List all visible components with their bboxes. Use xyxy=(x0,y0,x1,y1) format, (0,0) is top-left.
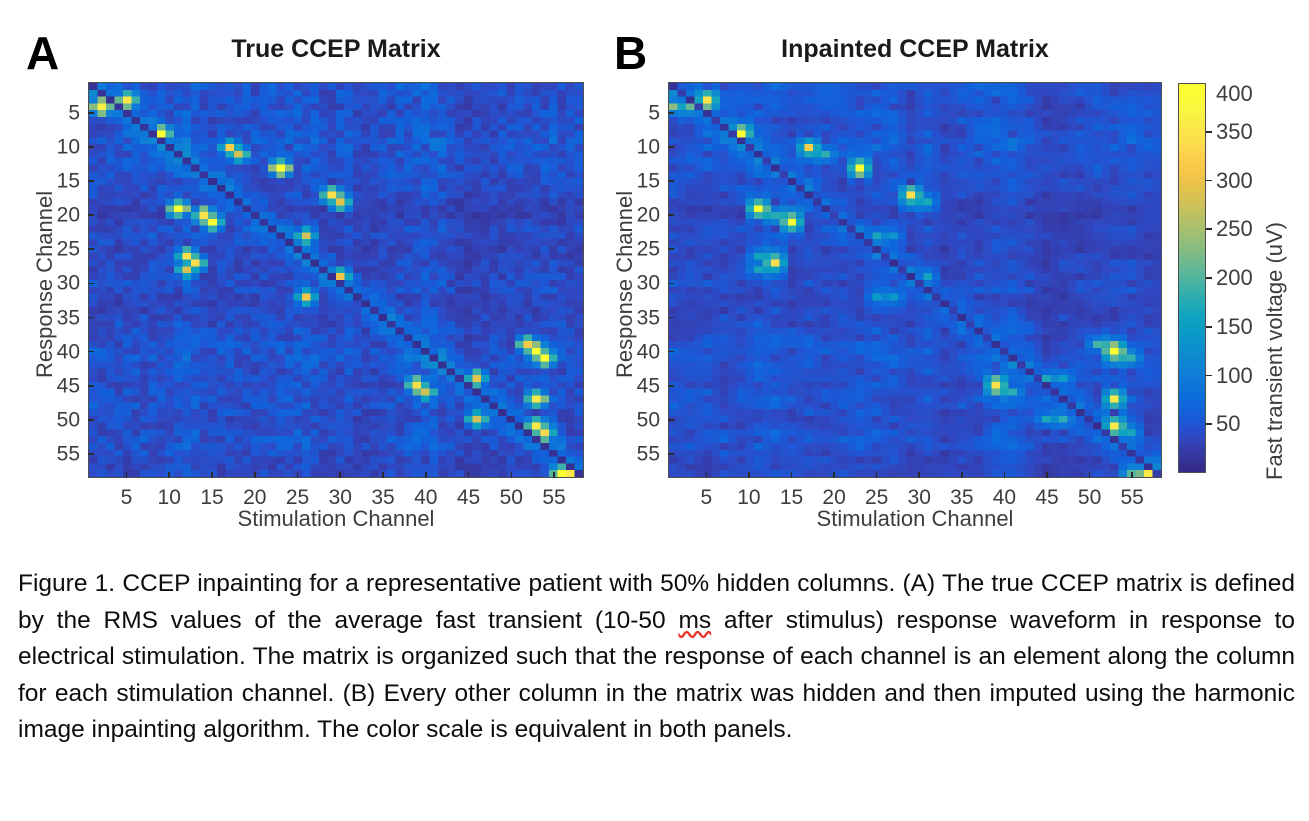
x-tick-label-b-40: 40 xyxy=(993,487,1016,508)
y-tick-label-b-55: 55 xyxy=(612,444,660,465)
y-tick-a-30 xyxy=(88,283,94,285)
x-tick-a-10 xyxy=(168,472,170,478)
colorbar-tick-100 xyxy=(1206,375,1212,377)
y-tick-a-55 xyxy=(88,453,94,455)
panel-letter-a: A xyxy=(26,30,59,76)
panel-title-a: True CCEP Matrix xyxy=(88,37,584,62)
colorbar-label-300: 300 xyxy=(1216,170,1253,192)
x-tick-label-a-10: 10 xyxy=(158,487,181,508)
x-tick-b-10 xyxy=(748,472,750,478)
x-tick-label-a-40: 40 xyxy=(414,487,437,508)
caption-spellcheck-word: ms xyxy=(678,607,711,634)
heatmap-panel-a[interactable] xyxy=(88,82,584,478)
x-tick-b-55 xyxy=(1131,472,1133,478)
x-tick-a-15 xyxy=(211,472,213,478)
y-tick-label-a-45: 45 xyxy=(32,375,80,396)
x-tick-label-a-15: 15 xyxy=(200,487,223,508)
x-tick-label-b-30: 30 xyxy=(908,487,931,508)
y-tick-b-10 xyxy=(668,146,674,148)
x-tick-b-45 xyxy=(1046,472,1048,478)
colorbar-tick-250 xyxy=(1206,228,1212,230)
y-tick-label-a-50: 50 xyxy=(32,409,80,430)
x-tick-b-30 xyxy=(918,472,920,478)
x-tick-label-a-50: 50 xyxy=(500,487,523,508)
y-tick-b-55 xyxy=(668,453,674,455)
x-tick-a-55 xyxy=(553,472,555,478)
x-tick-label-a-35: 35 xyxy=(371,487,394,508)
x-tick-a-20 xyxy=(254,472,256,478)
x-tick-label-b-15: 15 xyxy=(780,487,803,508)
x-tick-label-b-25: 25 xyxy=(865,487,888,508)
x-tick-label-b-5: 5 xyxy=(700,487,712,508)
y-tick-label-a-15: 15 xyxy=(32,171,80,192)
colorbar-label-100: 100 xyxy=(1216,365,1253,387)
y-tick-label-b-5: 5 xyxy=(612,102,660,123)
y-tick-a-20 xyxy=(88,214,94,216)
y-tick-b-25 xyxy=(668,248,674,250)
x-tick-label-a-55: 55 xyxy=(542,487,565,508)
heatmap-panel-b[interactable] xyxy=(668,82,1162,478)
x-tick-label-b-45: 45 xyxy=(1035,487,1058,508)
y-tick-b-20 xyxy=(668,214,674,216)
colorbar-tick-150 xyxy=(1206,326,1212,328)
y-tick-label-a-5: 5 xyxy=(32,102,80,123)
x-tick-a-5 xyxy=(126,472,128,478)
x-tick-b-35 xyxy=(961,472,963,478)
y-tick-b-35 xyxy=(668,317,674,319)
y-tick-a-40 xyxy=(88,351,94,353)
colorbar[interactable] xyxy=(1178,83,1206,473)
x-tick-b-25 xyxy=(876,472,878,478)
figure-caption: Figure 1. CCEP inpainting for a represen… xyxy=(18,566,1295,749)
x-tick-a-45 xyxy=(468,472,470,478)
x-tick-label-a-30: 30 xyxy=(329,487,352,508)
x-tick-a-30 xyxy=(339,472,341,478)
y-tick-b-30 xyxy=(668,283,674,285)
x-tick-b-15 xyxy=(791,472,793,478)
y-tick-b-45 xyxy=(668,385,674,387)
x-tick-b-20 xyxy=(833,472,835,478)
colorbar-title: Fast transient voltage (uV) xyxy=(1264,222,1286,480)
panel-title-b: Inpainted CCEP Matrix xyxy=(668,37,1162,62)
y-tick-a-35 xyxy=(88,317,94,319)
colorbar-label-400: 400 xyxy=(1216,83,1253,105)
x-tick-label-b-50: 50 xyxy=(1078,487,1101,508)
y-tick-a-10 xyxy=(88,146,94,148)
colorbar-label-250: 250 xyxy=(1216,218,1253,240)
x-tick-b-40 xyxy=(1004,472,1006,478)
colorbar-label-200: 200 xyxy=(1216,267,1253,289)
y-tick-label-b-10: 10 xyxy=(612,136,660,157)
panel-letter-b: B xyxy=(614,30,647,76)
x-axis-title-b: Stimulation Channel xyxy=(668,508,1162,530)
y-tick-label-b-15: 15 xyxy=(612,171,660,192)
x-tick-label-b-20: 20 xyxy=(822,487,845,508)
y-tick-b-15 xyxy=(668,180,674,182)
x-tick-b-50 xyxy=(1089,472,1091,478)
y-tick-a-45 xyxy=(88,385,94,387)
x-tick-a-35 xyxy=(382,472,384,478)
x-tick-b-5 xyxy=(706,472,708,478)
y-tick-a-5 xyxy=(88,112,94,114)
y-axis-title-b: Response Channel xyxy=(614,191,636,378)
x-axis-title-a: Stimulation Channel xyxy=(88,508,584,530)
y-tick-b-5 xyxy=(668,112,674,114)
y-tick-b-40 xyxy=(668,351,674,353)
y-tick-label-a-55: 55 xyxy=(32,444,80,465)
x-tick-label-b-55: 55 xyxy=(1121,487,1144,508)
colorbar-tick-50 xyxy=(1206,423,1212,425)
x-tick-label-a-5: 5 xyxy=(121,487,133,508)
y-tick-b-50 xyxy=(668,419,674,421)
x-tick-label-b-35: 35 xyxy=(950,487,973,508)
y-tick-a-50 xyxy=(88,419,94,421)
y-tick-a-25 xyxy=(88,248,94,250)
y-tick-label-b-45: 45 xyxy=(612,375,660,396)
y-axis-title-a: Response Channel xyxy=(34,191,56,378)
colorbar-tick-200 xyxy=(1206,277,1212,279)
y-tick-label-a-10: 10 xyxy=(32,136,80,157)
colorbar-label-350: 350 xyxy=(1216,121,1253,143)
colorbar-label-150: 150 xyxy=(1216,316,1253,338)
y-tick-label-b-50: 50 xyxy=(612,409,660,430)
colorbar-tick-300 xyxy=(1206,180,1212,182)
x-tick-a-25 xyxy=(297,472,299,478)
colorbar-label-50: 50 xyxy=(1216,413,1240,435)
x-tick-label-a-20: 20 xyxy=(243,487,266,508)
x-tick-label-b-10: 10 xyxy=(737,487,760,508)
figure-page: A True CCEP Matrix 510152025303540455055… xyxy=(0,0,1309,821)
x-tick-label-a-25: 25 xyxy=(286,487,309,508)
x-tick-a-40 xyxy=(425,472,427,478)
x-tick-label-a-45: 45 xyxy=(457,487,480,508)
y-tick-a-15 xyxy=(88,180,94,182)
x-tick-a-50 xyxy=(511,472,513,478)
colorbar-tick-350 xyxy=(1206,131,1212,133)
